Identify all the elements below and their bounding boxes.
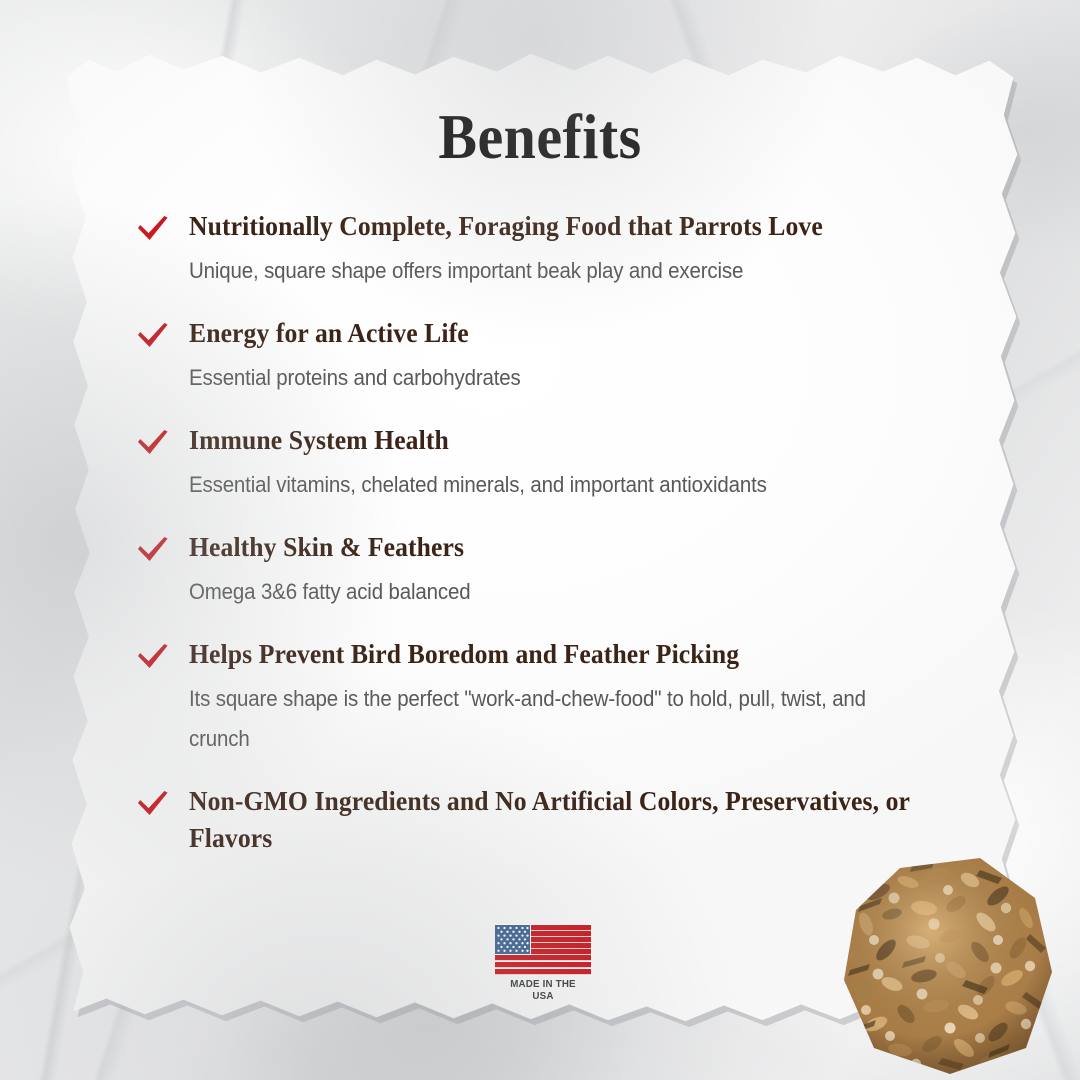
made-in-usa-badge: MADE IN THE USA	[495, 924, 591, 1002]
us-flag-icon	[495, 924, 591, 975]
benefit-item: Healthy Skin & Feathers Omega 3&6 fatty …	[136, 529, 966, 612]
check-icon	[136, 213, 170, 243]
benefit-item: Helps Prevent Bird Boredom and Feather P…	[136, 636, 966, 759]
page-stage: Benefits Nutritionally Complete, Foragin…	[0, 0, 1080, 1080]
benefit-subtext: Its square shape is the perfect "work-an…	[189, 679, 912, 759]
benefit-heading: Non-GMO Ingredients and No Artificial Co…	[189, 783, 927, 857]
benefit-heading: Healthy Skin & Feathers	[189, 529, 927, 566]
benefit-subtext: Essential vitamins, chelated minerals, a…	[189, 465, 912, 505]
benefit-item: Nutritionally Complete, Foraging Food th…	[136, 208, 966, 291]
benefit-heading: Nutritionally Complete, Foraging Food th…	[189, 208, 927, 245]
benefit-subtext: Essential proteins and carbohydrates	[189, 358, 912, 398]
page-title: Benefits	[43, 101, 1037, 174]
benefit-item: Non-GMO Ingredients and No Artificial Co…	[136, 783, 966, 857]
benefit-subtext: Omega 3&6 fatty acid balanced	[189, 572, 912, 612]
benefit-item: Immune System Health Essential vitamins,…	[136, 422, 966, 505]
benefit-item: Energy for an Active Life Essential prot…	[136, 315, 966, 398]
bird-food-block-photo	[830, 852, 1068, 1080]
check-icon	[136, 320, 170, 350]
benefit-heading: Helps Prevent Bird Boredom and Feather P…	[189, 636, 927, 673]
page-content: Benefits Nutritionally Complete, Foragin…	[0, 0, 1080, 1080]
benefit-heading: Immune System Health	[189, 422, 927, 459]
check-icon	[136, 788, 170, 818]
benefit-list: Nutritionally Complete, Foraging Food th…	[136, 208, 966, 881]
check-icon	[136, 641, 170, 671]
check-icon	[136, 534, 170, 564]
check-icon	[136, 427, 170, 457]
benefit-subtext: Unique, square shape offers important be…	[189, 251, 912, 291]
benefit-heading: Energy for an Active Life	[189, 315, 927, 352]
made-in-usa-label: MADE IN THE USA	[498, 978, 587, 1002]
